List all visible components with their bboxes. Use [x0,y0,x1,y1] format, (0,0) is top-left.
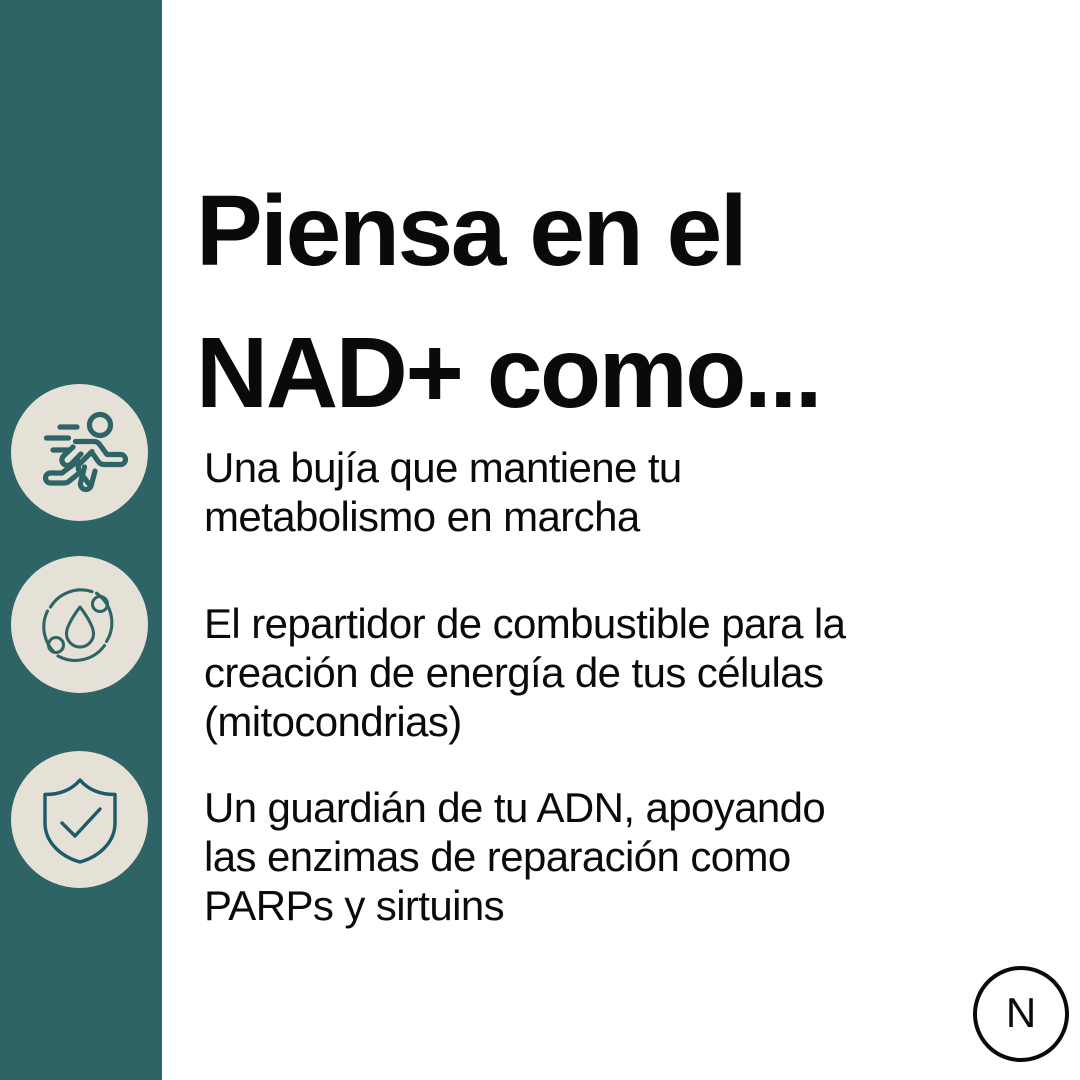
brand-logo-letter: N [1006,992,1036,1034]
shield-check-icon [36,774,124,866]
benefit-text-2: El repartidor de combustible para la cre… [204,599,1034,746]
benefit-text-1: Una bujía que mantiene tu metabolismo en… [204,443,1034,541]
icon-badge-protection [11,751,148,888]
page-title: Piensa en el NAD+ como... [196,160,1056,444]
poster-canvas: Piensa en el NAD+ como... Una bujía que … [0,0,1080,1080]
icon-badge-running [11,384,148,521]
left-accent-band [0,0,162,1080]
icon-badge-energy [11,556,148,693]
energy-droplet-orbit-icon [34,579,126,671]
benefit-text-3: Un guardián de tu ADN, apoyando las enzi… [204,783,1034,930]
brand-logo: N [973,966,1069,1062]
running-person-icon [32,405,128,501]
